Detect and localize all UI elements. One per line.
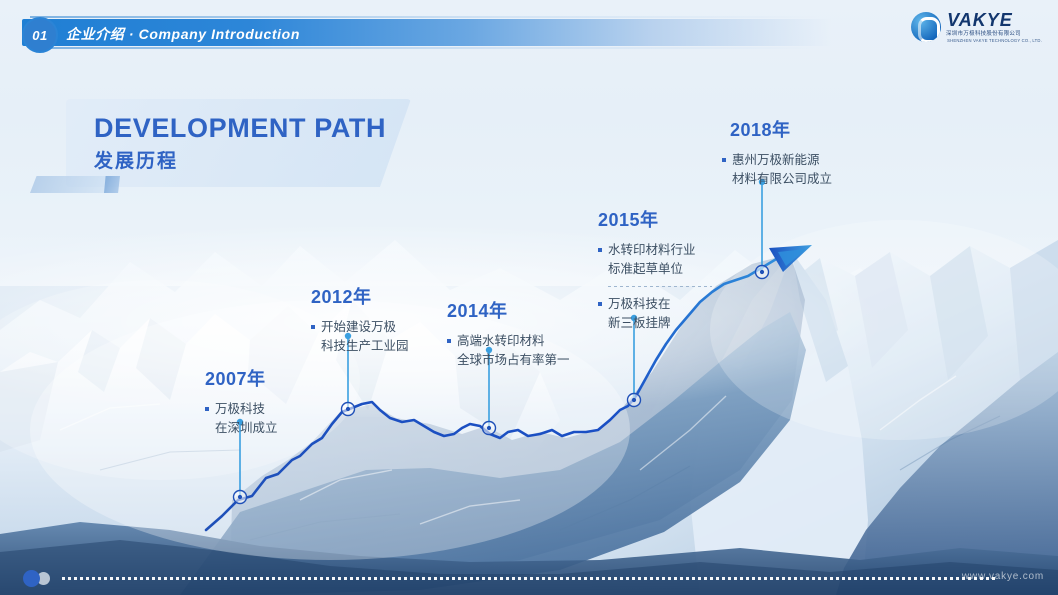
bullet-text: 万极科技在 新三板挂牌 <box>608 295 671 333</box>
footer-dotted-rule <box>62 577 997 580</box>
logo-company-en: SHENZHEN VAKYE TECHNOLOGY CO., LTD. <box>947 39 1042 43</box>
timeline-bullets: 水转印材料行业 标准起草单位 万极科技在 新三板挂牌 <box>598 241 712 333</box>
footer-website: www.vakye.com <box>962 571 1044 582</box>
timeline-bullets: 惠州万极新能源 材料有限公司成立 <box>722 151 832 189</box>
bullet-text: 惠州万极新能源 材料有限公司成立 <box>732 151 832 189</box>
bullet-text: 开始建设万极 科技生产工业园 <box>321 318 409 356</box>
timeline-entry-2015: 2015年 水转印材料行业 标准起草单位 万极科技在 新三板挂牌 <box>598 206 712 333</box>
bullet-text: 高端水转印材料 全球市场占有率第一 <box>457 332 570 370</box>
bullet-text: 万极科技 在深圳成立 <box>215 400 278 438</box>
bullet-square-icon <box>205 407 209 411</box>
timeline-entry-2014: 2014年 高端水转印材料 全球市场占有率第一 <box>447 297 570 370</box>
section-number-badge: 01 <box>22 17 58 53</box>
slide-development-path: 01 企业介绍 · Company Introduction VAKYE 深圳市… <box>0 0 1058 595</box>
page-title-en: DEVELOPMENT PATH <box>94 113 386 144</box>
list-item: 惠州万极新能源 材料有限公司成立 <box>722 151 832 189</box>
timeline-year: 2012年 <box>311 283 409 309</box>
footer-dot-primary <box>23 570 40 587</box>
page-title-cn: 发展历程 <box>94 146 178 173</box>
bullet-square-icon <box>722 158 726 162</box>
section-number-text: 01 <box>32 28 47 43</box>
timeline-entry-2012: 2012年 开始建设万极 科技生产工业园 <box>311 283 409 356</box>
bullet-square-icon <box>598 302 602 306</box>
timeline-bullets: 开始建设万极 科技生产工业园 <box>311 318 409 356</box>
bullet-square-icon <box>598 248 602 252</box>
header-bottom-rule <box>30 47 820 49</box>
bullet-square-icon <box>447 339 451 343</box>
logo-brand-name: VAKYE <box>947 11 1042 29</box>
title-accent-bar <box>30 176 112 193</box>
company-logo: VAKYE 深圳市万极科技股份有限公司 SHENZHEN VAKYE TECHN… <box>911 11 1042 44</box>
logo-company-cn: 深圳市万极科技股份有限公司 <box>946 32 1043 37</box>
list-item: 高端水转印材料 全球市场占有率第一 <box>447 332 570 370</box>
section-title: 企业介绍 · Company Introduction <box>66 24 300 44</box>
timeline-year: 2018年 <box>730 116 832 142</box>
logo-text-block: VAKYE 深圳市万极科技股份有限公司 SHENZHEN VAKYE TECHN… <box>947 11 1042 44</box>
bullet-divider <box>608 286 712 287</box>
timeline-year: 2015年 <box>598 206 712 232</box>
timeline-bullets: 万极科技 在深圳成立 <box>205 400 278 438</box>
list-item: 万极科技 在深圳成立 <box>205 400 278 438</box>
timeline-entry-2007: 2007年 万极科技 在深圳成立 <box>205 365 278 438</box>
bullet-text: 水转印材料行业 标准起草单位 <box>608 241 696 279</box>
timeline-year: 2014年 <box>447 297 570 323</box>
vakye-wave-icon <box>911 12 941 42</box>
timeline-bullets: 高端水转印材料 全球市场占有率第一 <box>447 332 570 370</box>
list-item: 开始建设万极 科技生产工业园 <box>311 318 409 356</box>
bullet-square-icon <box>311 325 315 329</box>
title-accent-chip <box>104 176 120 193</box>
header-top-rule <box>30 16 820 18</box>
list-item: 水转印材料行业 标准起草单位 <box>598 241 712 279</box>
list-item: 万极科技在 新三板挂牌 <box>598 295 712 333</box>
timeline-entry-2018: 2018年 惠州万极新能源 材料有限公司成立 <box>722 116 832 189</box>
timeline-year: 2007年 <box>205 365 278 391</box>
